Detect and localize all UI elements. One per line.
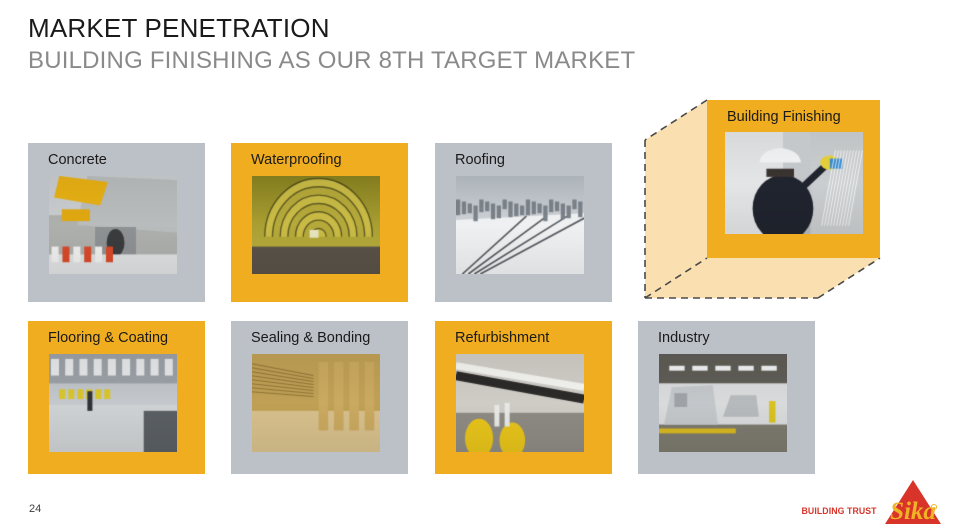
brand-tagline: BUILDING TRUST bbox=[802, 506, 877, 517]
workers-beam-refurbishment-photo bbox=[456, 354, 584, 452]
market-card-label: Waterproofing bbox=[251, 152, 342, 169]
page-number: 24 bbox=[29, 503, 41, 515]
market-card-industry[interactable]: Industry bbox=[638, 321, 815, 474]
market-card-label: Industry bbox=[658, 330, 710, 347]
car-assembly-line-photo bbox=[659, 354, 787, 452]
market-card-label: Refurbishment bbox=[455, 330, 549, 347]
sika-logo: Sika R bbox=[884, 478, 942, 526]
market-card-label: Roofing bbox=[455, 152, 505, 169]
market-card-label: Building Finishing bbox=[727, 109, 841, 126]
market-card-label: Concrete bbox=[48, 152, 107, 169]
slide-canvas: MARKET PENETRATION BUILDING FINISHING AS… bbox=[0, 0, 954, 532]
market-card-waterproofing[interactable]: Waterproofing bbox=[231, 143, 408, 302]
market-card-flooring-coating[interactable]: Flooring & Coating bbox=[28, 321, 205, 474]
market-card-label: Flooring & Coating bbox=[48, 330, 168, 347]
worker-facade-finishing-photo bbox=[725, 132, 863, 234]
market-card-grid: Concrete Waterproofing Roofing Flooring … bbox=[0, 0, 954, 532]
market-card-label: Sealing & Bonding bbox=[251, 330, 370, 347]
market-card-building-finishing[interactable]: Building Finishing bbox=[707, 100, 880, 258]
concrete-construction-photo bbox=[49, 176, 177, 274]
market-card-concrete[interactable]: Concrete bbox=[28, 143, 205, 302]
market-card-building-finishing-cube[interactable]: Building Finishing bbox=[638, 96, 888, 304]
market-card-roofing[interactable]: Roofing bbox=[435, 143, 612, 302]
tunnel-waterproofing-photo bbox=[252, 176, 380, 274]
svg-text:R: R bbox=[933, 506, 936, 510]
flat-roof-city-skyline-photo bbox=[456, 176, 584, 274]
svg-text:Sika: Sika bbox=[890, 498, 936, 525]
market-card-sealing-bonding[interactable]: Sealing & Bonding bbox=[231, 321, 408, 474]
market-card-refurbishment[interactable]: Refurbishment bbox=[435, 321, 612, 474]
industrial-floor-hall-photo bbox=[49, 354, 177, 452]
brand-block: BUILDING TRUST Sika R bbox=[795, 478, 942, 526]
interior-hall-columns-photo bbox=[252, 354, 380, 452]
